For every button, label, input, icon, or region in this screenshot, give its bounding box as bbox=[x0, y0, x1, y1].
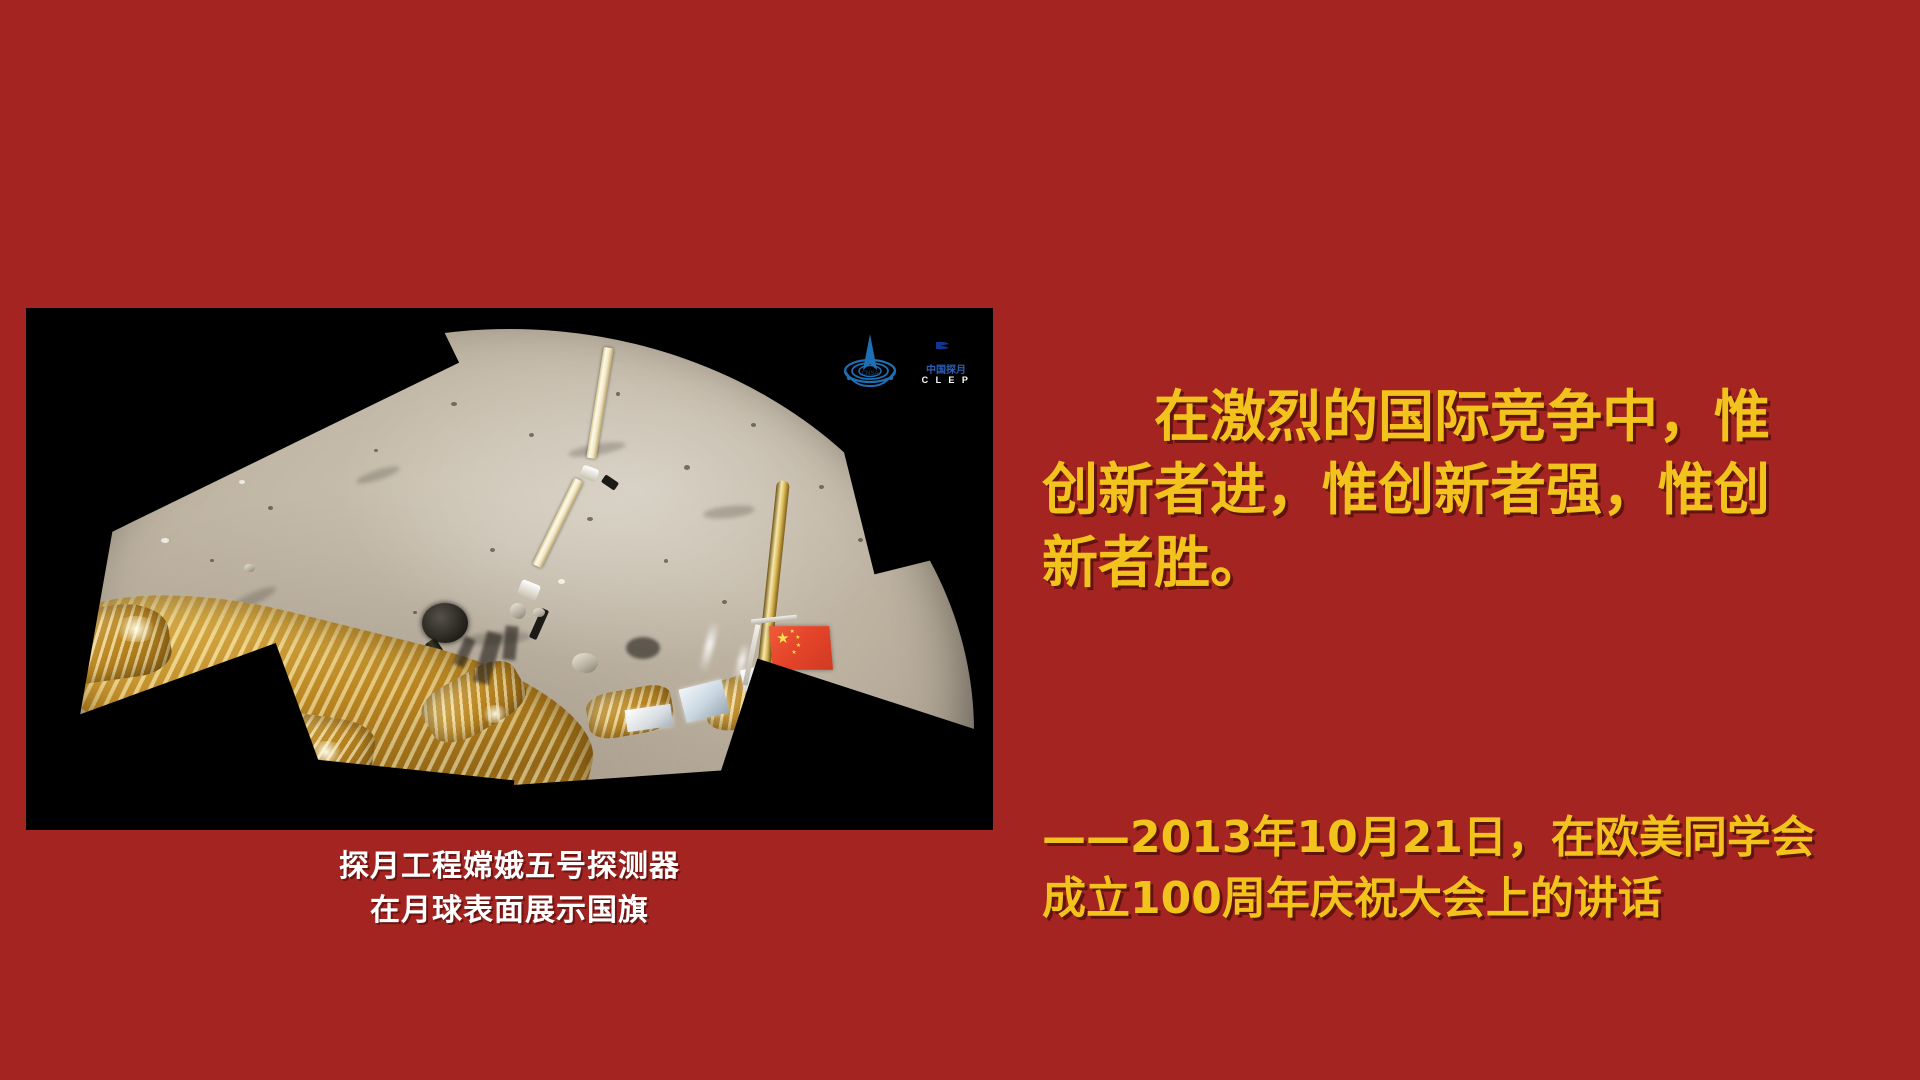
surface-rock bbox=[533, 608, 545, 617]
quote-line-3: 新者胜。 bbox=[1042, 528, 1910, 601]
cnsa-emblem-icon: CNSA bbox=[841, 330, 899, 392]
surface-speck bbox=[374, 449, 378, 452]
foil-glint bbox=[113, 616, 159, 642]
surface-bright-grain bbox=[161, 538, 169, 543]
arm-base-plate bbox=[510, 603, 526, 619]
svg-text:CNSA: CNSA bbox=[862, 371, 879, 377]
surface-rock bbox=[572, 653, 598, 673]
photo-caption: 探月工程嫦娥五号探测器 在月球表面展示国旗 bbox=[26, 845, 993, 932]
flag-large-star: ★ bbox=[775, 631, 790, 646]
surface-speck bbox=[858, 538, 863, 542]
surface-speck bbox=[664, 559, 668, 563]
chinese-national-flag: ★ ★ ★ ★ ★ bbox=[769, 626, 833, 670]
attribution-line-1: ——2013年10月21日，在欧美同学会 bbox=[1042, 808, 1920, 869]
attribution-line-2: 成立100周年庆祝大会上的讲话 bbox=[1042, 869, 1920, 930]
flag-small-star: ★ bbox=[794, 635, 800, 641]
agency-logos: CNSA 中国探月 C L E P bbox=[841, 330, 977, 392]
photo-frame: ★ ★ ★ ★ ★ bbox=[26, 308, 993, 830]
quote-line-1: 在激烈的国际竞争中，惟 bbox=[1042, 382, 1910, 455]
quote-line-2: 创新者进，惟创新者强，惟创 bbox=[1042, 455, 1910, 528]
clep-moon-icon bbox=[926, 330, 966, 364]
flag-small-star: ★ bbox=[795, 643, 801, 649]
foil-glint bbox=[480, 705, 510, 723]
caption-line-2: 在月球表面展示国旗 bbox=[26, 889, 993, 933]
flag-small-star: ★ bbox=[791, 650, 797, 656]
surface-speck bbox=[413, 611, 417, 614]
lunar-panorama-photo: ★ ★ ★ ★ ★ bbox=[26, 308, 993, 830]
surface-rock bbox=[244, 564, 255, 572]
caption-line-1: 探月工程嫦娥五号探测器 bbox=[26, 845, 993, 889]
quote-text: 在激烈的国际竞争中，惟 创新者进，惟创新者强，惟创 新者胜。 bbox=[1042, 382, 1910, 600]
surface-dark-patch bbox=[626, 637, 660, 659]
surface-speck bbox=[587, 517, 593, 521]
clep-logo: 中国探月 C L E P bbox=[915, 330, 977, 392]
clep-english-label: C L E P bbox=[922, 376, 971, 386]
surface-speck bbox=[684, 465, 690, 470]
cnsa-logo: CNSA bbox=[841, 330, 899, 392]
slide-root: ★ ★ ★ ★ ★ bbox=[0, 0, 1920, 1080]
surface-speck bbox=[616, 392, 620, 396]
attribution-block: ——2013年10月21日，在欧美同学会 成立100周年庆祝大会上的讲话 bbox=[1042, 808, 1920, 929]
surface-speck bbox=[210, 559, 214, 562]
quote-block: 在激烈的国际竞争中，惟 创新者进，惟创新者强，惟创 新者胜。 bbox=[1042, 382, 1910, 600]
